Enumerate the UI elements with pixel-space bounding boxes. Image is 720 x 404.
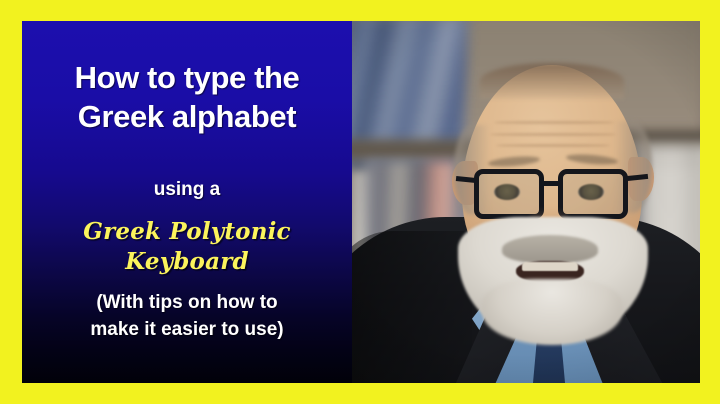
forehead-crease-1 [494, 121, 614, 124]
title-line-2: Greek alphabet [30, 97, 344, 136]
chin-beard [482, 279, 622, 345]
subtitle-text: using a [22, 178, 352, 202]
suit-shadow [352, 231, 472, 383]
forehead-crease-3 [496, 144, 610, 147]
forehead-crease-2 [490, 133, 616, 136]
thumbnail-content-area: How to type the Greek alphabet using a G… [22, 21, 700, 383]
page-title: How to type the Greek alphabet [22, 58, 352, 136]
highlight-text: Greek Polytonic Keyboard [22, 217, 352, 277]
moustache [502, 235, 598, 263]
title-line-1: How to type the [30, 58, 344, 97]
presenter-photo [352, 21, 700, 383]
note-line-2: make it easier to use) [32, 316, 342, 343]
teeth [522, 262, 578, 271]
note-text: (With tips on how to make it easier to u… [22, 289, 352, 343]
glasses-lens-right [558, 169, 628, 219]
hair-top [480, 63, 624, 99]
glasses-bridge [541, 181, 561, 186]
presenter-figure [352, 21, 700, 383]
title-text-panel: How to type the Greek alphabet using a G… [22, 21, 352, 383]
note-line-1: (With tips on how to [32, 289, 342, 316]
video-thumbnail: How to type the Greek alphabet using a G… [0, 0, 720, 404]
